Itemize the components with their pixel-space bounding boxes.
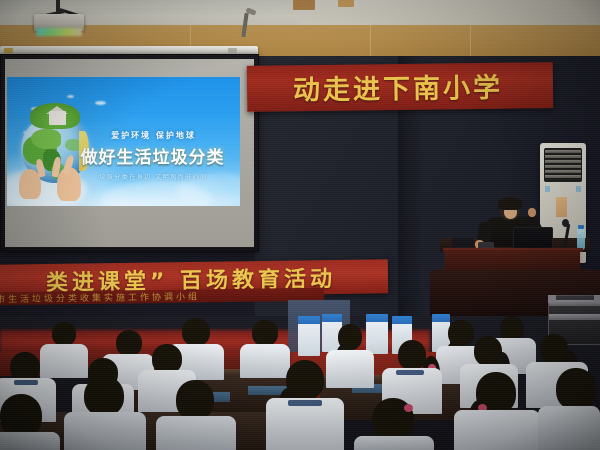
ac-badge [545, 186, 550, 192]
ceiling-fixture [293, 0, 315, 10]
banner-top: 动走进下南小学 [247, 62, 554, 112]
gift-bag-top [298, 316, 320, 324]
ac-badge [576, 186, 581, 192]
wall-seam [470, 25, 471, 58]
water-bottle-icon [577, 228, 585, 250]
presenter-hair [498, 197, 522, 210]
projector-lens-glow [36, 28, 82, 36]
bottle-cap [578, 225, 584, 229]
ac-grill [544, 148, 582, 182]
banner-top-text: 动走进下南小学 [243, 65, 553, 108]
gift-bag-top [432, 314, 450, 322]
slide-title: 做好生活垃圾分类 [7, 143, 240, 168]
slide-top-line: 爱护环境 保护地球 [7, 130, 240, 141]
projection-screen: 爱护环境 保护地球 做好生活垃圾分类 垃圾分类在身边 文明风尚驻心间 [0, 54, 259, 252]
screen-roller-cap [228, 48, 237, 53]
photo-scene: 爱护环境 保护地球 做好生活垃圾分类 垃圾分类在身边 文明风尚驻心间 动走进下南… [0, 0, 600, 450]
gift-bag-top [366, 314, 388, 322]
house-icon [49, 111, 66, 125]
slide-subtitle: 垃圾分类在身边 文明风尚驻心间 [7, 172, 240, 181]
ceiling-fixture [338, 0, 354, 7]
microphone-icon [562, 219, 569, 227]
ac-label [556, 197, 567, 217]
gift-bag [366, 318, 388, 354]
projected-slide: 爱护环境 保护地球 做好生活垃圾分类 垃圾分类在身边 文明风尚驻心间 [7, 77, 240, 206]
presenter-hand [528, 208, 536, 217]
gift-bag-top [322, 314, 342, 322]
screen-roller-cap [4, 48, 13, 53]
gift-bag [298, 320, 320, 356]
wall-seam [370, 25, 371, 58]
gift-bag-top [392, 316, 412, 324]
